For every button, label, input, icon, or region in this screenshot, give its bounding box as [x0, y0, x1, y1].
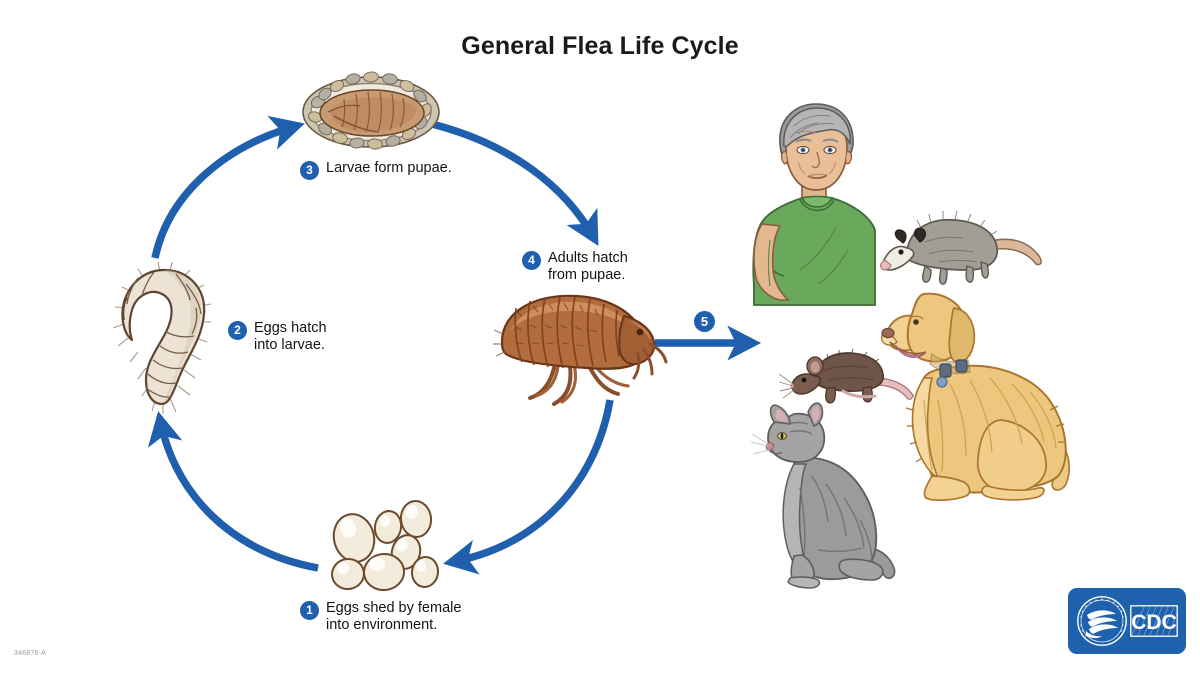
- step-badge-5: 5: [694, 311, 715, 332]
- arrow-eggs-to-larva: [160, 420, 318, 568]
- hhs-seal-icon: [1076, 595, 1128, 647]
- flea-eggs-illustration: [326, 500, 448, 592]
- callout-step-4: 4 Adults hatch from pupae.: [522, 250, 662, 284]
- cdc-logo[interactable]: CDC: [1068, 588, 1186, 654]
- step-label-2: Eggs hatch into larvae.: [254, 320, 327, 354]
- callout-step-1: 1 Eggs shed by female into environment.: [300, 600, 500, 634]
- flea-larva-illustration: [108, 262, 220, 414]
- arrow-pupa-to-adult: [432, 124, 594, 238]
- host-cat-illustration: [760, 380, 905, 595]
- arrow-larva-to-pupa: [155, 126, 296, 258]
- step-label-1: Eggs shed by female into environment.: [326, 600, 461, 634]
- cdc-wordmark: CDC: [1130, 605, 1178, 637]
- step-badge-2: 2: [228, 321, 247, 340]
- asset-id: 346876-A: [14, 650, 46, 657]
- diagram-canvas: General Flea Life Cycle: [0, 0, 1200, 675]
- callout-step-3: 3 Larvae form pupae.: [300, 160, 510, 180]
- cdc-logo-text: CDC: [1131, 611, 1177, 634]
- step-badge-1: 1: [300, 601, 319, 620]
- step-badge-3: 3: [300, 161, 319, 180]
- step-label-3: Larvae form pupae.: [326, 160, 452, 177]
- host-human-illustration: [740, 100, 875, 305]
- adult-flea-illustration: [492, 286, 668, 410]
- step-badge-4: 4: [522, 251, 541, 270]
- host-opossum-illustration: [875, 200, 1050, 292]
- host-group: [740, 100, 1080, 520]
- flea-pupa-cocoon-illustration: [300, 72, 442, 150]
- arrow-adult-to-eggs: [452, 400, 610, 562]
- callout-step-2: 2 Eggs hatch into larvae.: [228, 320, 348, 354]
- step-label-4: Adults hatch from pupae.: [548, 250, 628, 284]
